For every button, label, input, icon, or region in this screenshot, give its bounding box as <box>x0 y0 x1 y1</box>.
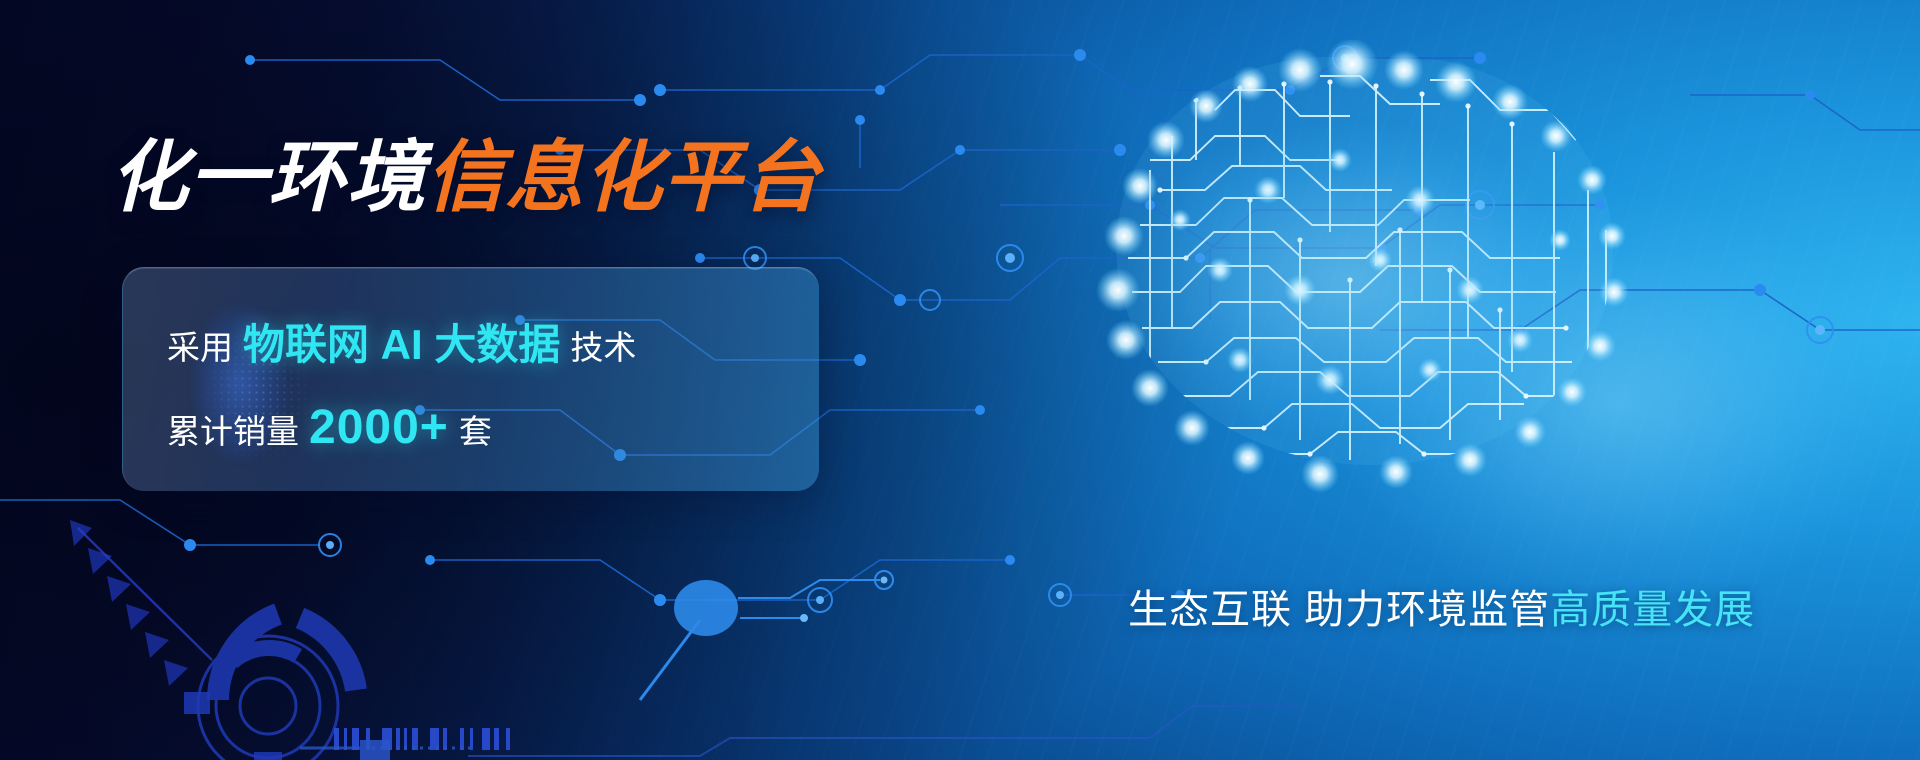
bubble-connector <box>640 571 893 700</box>
radial-dial-icon <box>198 614 356 760</box>
hud-path <box>468 706 1300 756</box>
dial-blocks <box>184 692 282 760</box>
banner-root: 化一环境信息化平台 采用 物联网 AI 大数据 技术 累计销量 2000+ 套 … <box>0 0 1920 760</box>
hud-decoration-layer <box>0 0 1920 760</box>
chevron-arrow-icon <box>70 520 188 686</box>
hud-arrow-row <box>360 740 390 760</box>
